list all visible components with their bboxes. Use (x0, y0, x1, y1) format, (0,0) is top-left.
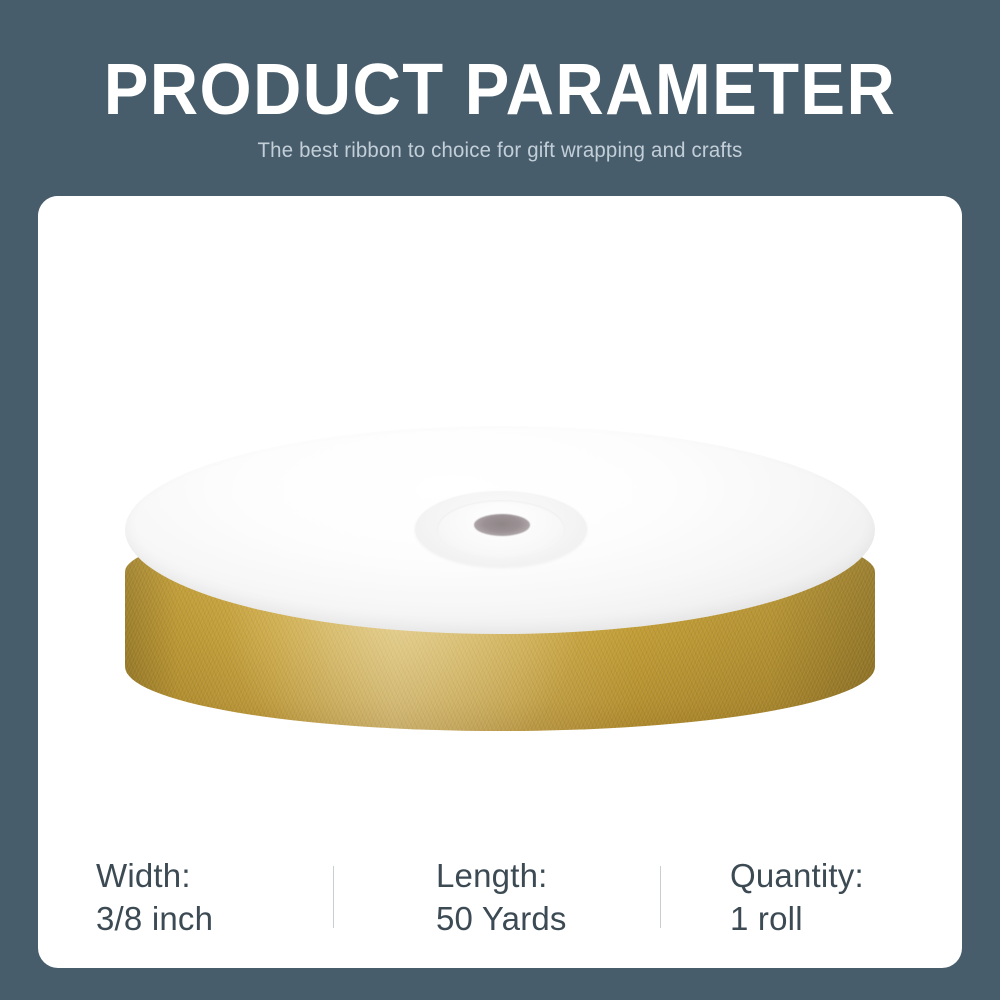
spec-label-length: Length: (436, 855, 567, 897)
ribbon-spool-image (125, 426, 875, 741)
spec-label-quantity: Quantity: (730, 855, 864, 897)
spec-divider-2 (660, 866, 661, 928)
spec-label-width: Width: (96, 855, 213, 897)
spec-list: Width: 3/8 inch Length: 50 Yards Quantit… (38, 808, 962, 968)
spec-item-length: Length: 50 Yards (436, 855, 567, 941)
spec-value-length: 50 Yards (436, 897, 567, 941)
page-title: PRODUCT PARAMETER (35, 53, 965, 127)
spec-value-width: 3/8 inch (96, 897, 213, 941)
product-photo (38, 196, 962, 808)
spec-item-quantity: Quantity: 1 roll (730, 855, 864, 941)
header: PRODUCT PARAMETER The best ribbon to cho… (0, 0, 1000, 196)
spec-item-width: Width: 3/8 inch (96, 855, 213, 941)
product-card: Width: 3/8 inch Length: 50 Yards Quantit… (38, 196, 962, 968)
page-subtitle: The best ribbon to choice for gift wrapp… (15, 137, 985, 165)
spec-value-quantity: 1 roll (730, 897, 864, 941)
spec-divider-1 (333, 866, 334, 928)
spool-center-hole (474, 514, 530, 536)
